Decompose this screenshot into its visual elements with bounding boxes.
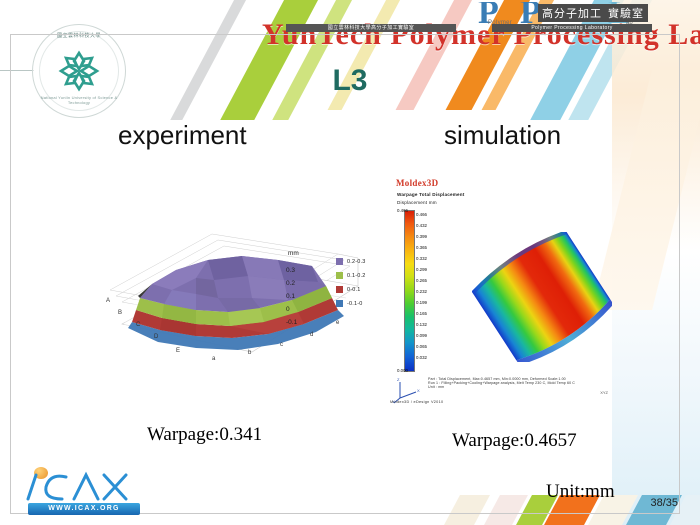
legend-item: 0.1-0.2 bbox=[336, 272, 392, 279]
cn-name-badge: 高分子加工 bbox=[538, 4, 606, 22]
cn-subtitle-bar-2: 國立雲林科技大學高分子加工實驗室 bbox=[286, 24, 456, 32]
colorbar bbox=[404, 210, 415, 372]
moldex-title: Moldex3D bbox=[396, 178, 438, 188]
legend-label: 0.1-0.2 bbox=[347, 273, 366, 279]
caption-unit: Unit:mm bbox=[546, 481, 615, 503]
z-tick: -0.1 bbox=[286, 316, 326, 329]
legend-swatch bbox=[336, 272, 343, 279]
svg-text:e: e bbox=[336, 320, 340, 326]
colorbar-tick: 0.265 bbox=[416, 278, 427, 284]
page-title: L3 bbox=[0, 64, 700, 98]
z-tick: 0.3 bbox=[286, 264, 326, 277]
ppl-logo-mark: P P L Polymer ab 高分子加工 實驗室 Polymer Proce… bbox=[476, 2, 666, 34]
moldex-footer-line: Unit : mm bbox=[428, 385, 608, 389]
cn-subtitle-bar: Polymer Processing Laboratory bbox=[492, 24, 652, 32]
page-number: 38/35 bbox=[650, 497, 678, 509]
legend-item: -0.1-0 bbox=[336, 300, 392, 307]
colorbar-tick: 0.132 bbox=[416, 322, 427, 328]
colorbar-tick: 0.099 bbox=[416, 333, 427, 339]
moldex-subtitle-1: Warpage Total Displacement bbox=[397, 192, 464, 197]
colorbar-tick: 0.232 bbox=[416, 289, 427, 295]
legend-swatch bbox=[336, 286, 343, 293]
warped-plate-render bbox=[472, 232, 612, 362]
z-axis-unit: mm bbox=[288, 250, 326, 257]
icax-url: WWW.ICAX.ORG bbox=[28, 503, 140, 515]
svg-text:Z: Z bbox=[397, 377, 400, 382]
svg-text:d: d bbox=[310, 332, 313, 338]
legend-label: -0.1-0 bbox=[347, 301, 363, 307]
caption-warpage-experiment: Warpage:0.341 bbox=[147, 424, 262, 446]
colorbar-tick: 0.199 bbox=[416, 300, 427, 306]
moldex-footer-note: Moldex3D / eDesign V2010 bbox=[390, 400, 443, 404]
colorbar-tick: 0.399 bbox=[416, 234, 427, 240]
z-tick: 0.2 bbox=[286, 277, 326, 290]
svg-text:D: D bbox=[154, 334, 159, 340]
moldex-corner-mark: XYZ bbox=[600, 390, 608, 395]
z-tick: 0 bbox=[286, 303, 326, 316]
legend-label: 0-0.1 bbox=[347, 287, 361, 293]
cn-name-badge-2: 實驗室 bbox=[604, 4, 648, 22]
colorbar-tick: 0.466 bbox=[416, 212, 427, 218]
colorbar-tick: 0.032 bbox=[416, 355, 427, 361]
colorbar-tick: 0.332 bbox=[416, 256, 427, 262]
colorbar-tick: 0.165 bbox=[416, 311, 427, 317]
svg-text:a: a bbox=[212, 356, 216, 362]
z-tick: 0.1 bbox=[286, 290, 326, 303]
svg-text:X: X bbox=[417, 388, 420, 393]
moldex-subtitle-2: Displacement mm bbox=[397, 200, 437, 205]
svg-text:B: B bbox=[118, 310, 122, 316]
svg-text:A: A bbox=[106, 298, 110, 304]
experiment-z-axis: mm 0.3 0.2 0.1 0 -0.1 bbox=[286, 250, 326, 329]
slide: YunTech Polymer Processing Lab P P L Pol… bbox=[0, 0, 700, 525]
colorbar-tick: 0.432 bbox=[416, 223, 427, 229]
simulation-plot: Moldex3D Warpage Total Displacement Disp… bbox=[388, 178, 618, 413]
heading-experiment: experiment bbox=[118, 120, 247, 151]
svg-text:E: E bbox=[176, 348, 180, 354]
colorbar-max: 0.466 bbox=[397, 208, 408, 213]
colorbar-tick: 0.299 bbox=[416, 267, 427, 273]
caption-warpage-simulation: Warpage:0.4657 bbox=[452, 430, 577, 452]
svg-text:C: C bbox=[136, 322, 141, 328]
colorbar-tick: 0.065 bbox=[416, 344, 427, 350]
colorbar-min: 0.000 bbox=[397, 368, 408, 373]
icax-url-band: WWW.ICAX.ORG bbox=[28, 503, 140, 515]
heading-simulation: simulation bbox=[444, 120, 561, 151]
experiment-legend: 0.2-0.3 0.1-0.2 0-0.1 -0.1-0 bbox=[336, 258, 392, 314]
legend-item: 0-0.1 bbox=[336, 286, 392, 293]
legend-swatch bbox=[336, 300, 343, 307]
legend-label: 0.2-0.3 bbox=[347, 259, 366, 265]
icax-wordmark-icon bbox=[14, 465, 146, 505]
moldex-footer: Part : Total Displacement, Max:0.4657 mm… bbox=[428, 377, 608, 389]
legend-item: 0.2-0.3 bbox=[336, 258, 392, 265]
svg-text:c: c bbox=[280, 342, 283, 348]
legend-swatch bbox=[336, 258, 343, 265]
colorbar-tick: 0.365 bbox=[416, 245, 427, 251]
icax-logo[interactable]: WWW.ICAX.ORG bbox=[14, 465, 146, 517]
